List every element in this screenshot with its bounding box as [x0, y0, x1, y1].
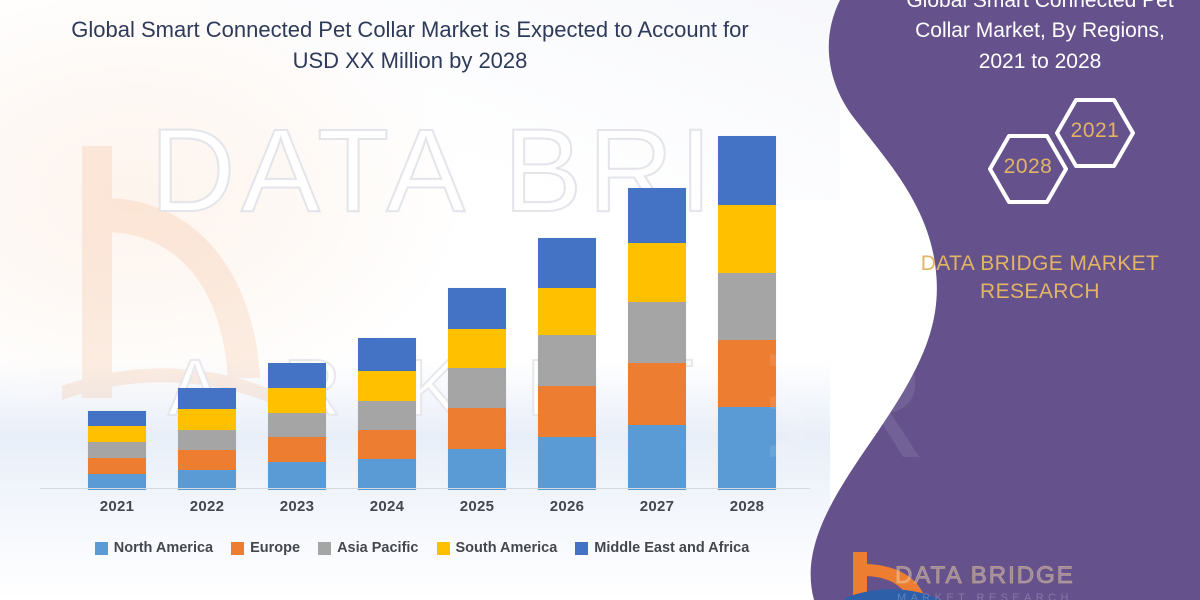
- x-axis-label: 2023: [252, 498, 342, 515]
- legend-swatch-icon: [575, 542, 588, 555]
- x-axis-label: 2021: [72, 498, 162, 515]
- legend-swatch-icon: [437, 542, 450, 555]
- bar-segment: [448, 368, 506, 408]
- brand-panel: BR R Global Smart Connected Pet Collar M…: [770, 0, 1200, 600]
- legend-swatch-icon: [231, 542, 244, 555]
- bar-segment: [268, 462, 326, 490]
- infographic-canvas: DATA BRI A R K E T Global Smart Connecte…: [0, 0, 1200, 600]
- stacked-bar: [538, 238, 596, 490]
- bar-segment: [538, 238, 596, 288]
- bar-chart-plot: [40, 110, 800, 490]
- chart-title: Global Smart Connected Pet Collar Market…: [60, 14, 760, 76]
- logo-subtitle: MARKET RESEARCH: [897, 592, 1073, 600]
- bar-segment: [358, 338, 416, 371]
- bar-segment: [538, 288, 596, 335]
- legend-label: Europe: [250, 540, 300, 556]
- legend-item[interactable]: South America: [437, 540, 558, 556]
- panel-title: Global Smart Connected Pet Collar Market…: [890, 0, 1190, 77]
- bar-segment: [628, 363, 686, 425]
- bar-segment: [268, 437, 326, 462]
- bar-segment: [448, 288, 506, 329]
- bar-segment: [718, 340, 776, 407]
- bar-segment: [88, 426, 146, 442]
- bar-segment: [628, 188, 686, 243]
- stacked-bar: [88, 411, 146, 490]
- bar-segment: [178, 430, 236, 450]
- stacked-bar: [448, 288, 506, 490]
- bar-segment: [178, 409, 236, 430]
- bar-segment: [178, 450, 236, 470]
- stacked-bar: [178, 388, 236, 490]
- hexagon-label-2021: 2021: [1057, 119, 1133, 143]
- bar-segment: [88, 442, 146, 458]
- stacked-bar: [268, 363, 326, 490]
- legend-item[interactable]: North America: [95, 540, 213, 556]
- bar-segment: [268, 363, 326, 388]
- legend-label: Middle East and Africa: [594, 540, 749, 556]
- bar-segment: [628, 302, 686, 363]
- bar-segment: [538, 437, 596, 490]
- legend-item[interactable]: Europe: [231, 540, 300, 556]
- bar-segment: [718, 136, 776, 205]
- brand-name: DATA BRIDGE MARKET RESEARCH: [880, 250, 1200, 307]
- x-axis-label: 2026: [522, 498, 612, 515]
- bar-segment: [268, 388, 326, 413]
- bar-segment: [538, 335, 596, 386]
- x-axis-label: 2027: [612, 498, 702, 515]
- logo-wordmark: DATA BRIDGE: [895, 562, 1075, 590]
- bar-segment: [448, 449, 506, 490]
- legend-label: North America: [114, 540, 213, 556]
- stacked-bar: [718, 136, 776, 490]
- bar-segment: [268, 413, 326, 437]
- bar-segment: [88, 411, 146, 426]
- legend-label: Asia Pacific: [337, 540, 418, 556]
- bar-segment: [448, 408, 506, 449]
- bar-segment: [448, 329, 506, 368]
- bar-segment: [358, 401, 416, 430]
- legend-swatch-icon: [318, 542, 331, 555]
- hexagon-label-2028: 2028: [990, 155, 1066, 179]
- bar-segment: [88, 458, 146, 474]
- bar-segment: [628, 425, 686, 490]
- bar-segment: [358, 371, 416, 401]
- x-axis-label: 2025: [432, 498, 522, 515]
- legend-item[interactable]: Middle East and Africa: [575, 540, 749, 556]
- bar-segment: [718, 205, 776, 273]
- bar-segment: [178, 470, 236, 490]
- x-axis-label: 2022: [162, 498, 252, 515]
- chart-legend: North AmericaEuropeAsia PacificSouth Ame…: [42, 540, 802, 556]
- x-axis-line: [40, 488, 810, 489]
- legend-swatch-icon: [95, 542, 108, 555]
- bar-segment: [718, 407, 776, 490]
- bar-segment: [538, 386, 596, 437]
- legend-label: South America: [456, 540, 558, 556]
- hexagon-group: 2021 2028: [890, 96, 1190, 226]
- bar-segment: [178, 388, 236, 409]
- bar-segment: [358, 459, 416, 490]
- x-axis-label: 2024: [342, 498, 432, 515]
- bar-segment: [718, 273, 776, 340]
- legend-item[interactable]: Asia Pacific: [318, 540, 418, 556]
- bar-segment: [628, 243, 686, 302]
- stacked-bar: [358, 338, 416, 490]
- stacked-bar: [628, 188, 686, 490]
- bar-segment: [358, 430, 416, 459]
